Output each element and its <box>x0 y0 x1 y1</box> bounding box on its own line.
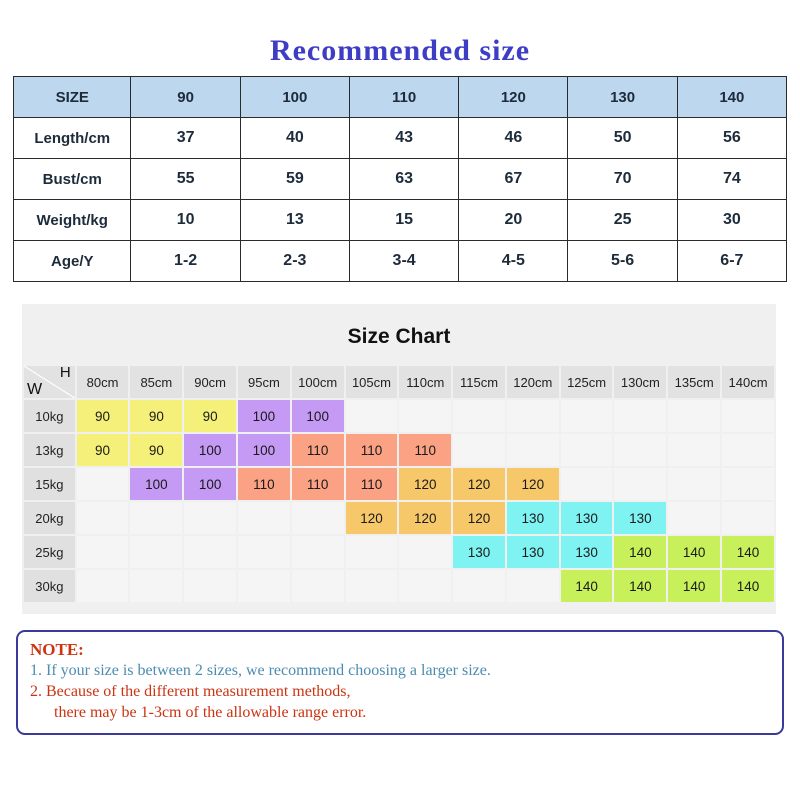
size-table-cell: 10 <box>131 200 240 241</box>
size-table-header-cell: 120 <box>459 77 568 118</box>
grid-cell-empty <box>184 570 236 602</box>
grid-cell-size: 100 <box>184 434 236 466</box>
grid-column-header: 85cm <box>130 366 182 398</box>
table-row: Length/cm 37 40 43 46 50 56 <box>14 118 787 159</box>
grid-cell-size: 140 <box>561 570 613 602</box>
grid-cell-empty <box>507 570 559 602</box>
grid-cell-empty <box>238 570 290 602</box>
grid-cell-size: 90 <box>77 400 129 432</box>
grid-cell-empty <box>561 468 613 500</box>
grid-column-header: 110cm <box>399 366 451 398</box>
size-table-cell: 15 <box>349 200 458 241</box>
grid-cell-empty <box>668 434 720 466</box>
grid-column-header: 135cm <box>668 366 720 398</box>
size-table-cell: 1-2 <box>131 241 240 282</box>
grid-cell-size: 130 <box>453 536 505 568</box>
grid-cell-empty <box>668 502 720 534</box>
size-table-cell: 55 <box>131 159 240 200</box>
grid-row-label: 20kg <box>24 502 75 534</box>
note-line-3: there may be 1-3cm of the allowable rang… <box>30 702 772 723</box>
grid-cell-empty <box>130 502 182 534</box>
grid-cell-size: 140 <box>614 536 666 568</box>
grid-cell-empty <box>722 400 774 432</box>
grid-column-header: 140cm <box>722 366 774 398</box>
size-table-cell: 25 <box>568 200 677 241</box>
grid-cell-size: 110 <box>292 434 344 466</box>
grid-cell-empty <box>77 468 129 500</box>
grid-cell-empty <box>77 570 129 602</box>
grid-cell-size: 140 <box>668 536 720 568</box>
grid-cell-empty <box>292 536 344 568</box>
grid-cell-size: 100 <box>130 468 182 500</box>
size-table-cell: 50 <box>568 118 677 159</box>
grid-column-header: 95cm <box>238 366 290 398</box>
grid-column-header: 90cm <box>184 366 236 398</box>
grid-row: 25kg130130130140140140 <box>24 536 774 568</box>
size-table-header-cell: 130 <box>568 77 677 118</box>
grid-cell-size: 110 <box>292 468 344 500</box>
grid-row: 30kg140140140140 <box>24 570 774 602</box>
grid-cell-size: 120 <box>453 468 505 500</box>
grid-cell-empty <box>453 570 505 602</box>
grid-cell-empty <box>722 468 774 500</box>
grid-cell-size: 120 <box>399 502 451 534</box>
grid-column-header: 130cm <box>614 366 666 398</box>
grid-cell-size: 100 <box>238 434 290 466</box>
size-table-cell: 5-6 <box>568 241 677 282</box>
grid-column-header: 125cm <box>561 366 613 398</box>
grid-cell-size: 140 <box>614 570 666 602</box>
size-table-cell: 6-7 <box>677 241 786 282</box>
note-line-1: 1. If your size is between 2 sizes, we r… <box>30 660 772 681</box>
size-table-header-cell: 100 <box>240 77 349 118</box>
grid-cell-size: 130 <box>614 502 666 534</box>
grid-cell-empty <box>346 400 398 432</box>
size-table-row-label: Age/Y <box>14 241 131 282</box>
grid-cell-empty <box>184 536 236 568</box>
grid-row-label: 10kg <box>24 400 75 432</box>
grid-cell-empty <box>130 570 182 602</box>
grid-cell-empty <box>292 570 344 602</box>
size-table-head: SIZE 90 100 110 120 130 140 <box>14 77 787 118</box>
recommended-size-table-wrapper: SIZE 90 100 110 120 130 140 Length/cm 37… <box>0 76 800 282</box>
size-table-header-cell: 140 <box>677 77 786 118</box>
size-table-cell: 56 <box>677 118 786 159</box>
grid-column-header: 100cm <box>292 366 344 398</box>
grid-cell-empty <box>130 536 182 568</box>
grid-column-header: 120cm <box>507 366 559 398</box>
grid-cell-size: 110 <box>346 468 398 500</box>
grid-cell-size: 110 <box>346 434 398 466</box>
grid-cell-size: 100 <box>292 400 344 432</box>
size-table-row-label: Bust/cm <box>14 159 131 200</box>
grid-cell-size: 140 <box>722 570 774 602</box>
grid-row: 13kg9090100100110110110 <box>24 434 774 466</box>
size-table-cell: 13 <box>240 200 349 241</box>
grid-cell-empty <box>453 400 505 432</box>
grid-cell-empty <box>77 536 129 568</box>
grid-column-header: 115cm <box>453 366 505 398</box>
size-table-row-label: Length/cm <box>14 118 131 159</box>
grid-cell-empty <box>561 400 613 432</box>
grid-row-label: 15kg <box>24 468 75 500</box>
size-chart-header-row: H W 80cm85cm90cm95cm100cm105cm110cm115cm… <box>24 366 774 398</box>
grid-cell-empty <box>399 400 451 432</box>
grid-cell-empty <box>184 502 236 534</box>
size-table-header-cell: 90 <box>131 77 240 118</box>
size-table-header-cell: 110 <box>349 77 458 118</box>
size-table-cell: 4-5 <box>459 241 568 282</box>
grid-cell-size: 110 <box>238 468 290 500</box>
grid-cell-size: 90 <box>130 434 182 466</box>
recommended-size-table: SIZE 90 100 110 120 130 140 Length/cm 37… <box>13 76 787 282</box>
grid-cell-size: 130 <box>561 536 613 568</box>
grid-cell-size: 100 <box>238 400 290 432</box>
table-row: Age/Y 1-2 2-3 3-4 4-5 5-6 6-7 <box>14 241 787 282</box>
size-chart-head: H W 80cm85cm90cm95cm100cm105cm110cm115cm… <box>24 366 774 398</box>
size-table-row-label: Weight/kg <box>14 200 131 241</box>
size-table-body: Length/cm 37 40 43 46 50 56 Bust/cm 55 5… <box>14 118 787 282</box>
grid-cell-empty <box>507 400 559 432</box>
grid-cell-empty <box>292 502 344 534</box>
grid-cell-size: 110 <box>399 434 451 466</box>
grid-cell-empty <box>238 502 290 534</box>
grid-row: 20kg120120120130130130 <box>24 502 774 534</box>
note-line-2: 2. Because of the different measurement … <box>30 681 772 702</box>
page-title: Recommended size <box>0 0 800 76</box>
note-box: NOTE: 1. If your size is between 2 sizes… <box>16 630 784 735</box>
size-table-cell: 43 <box>349 118 458 159</box>
grid-cell-size: 130 <box>561 502 613 534</box>
grid-cell-size: 130 <box>507 502 559 534</box>
grid-cell-size: 140 <box>722 536 774 568</box>
grid-cell-empty <box>668 400 720 432</box>
grid-cell-empty <box>722 502 774 534</box>
size-table-header-cell: SIZE <box>14 77 131 118</box>
grid-cell-size: 120 <box>453 502 505 534</box>
table-row: Bust/cm 55 59 63 67 70 74 <box>14 159 787 200</box>
grid-cell-size: 120 <box>507 468 559 500</box>
size-table-header-row: SIZE 90 100 110 120 130 140 <box>14 77 787 118</box>
size-chart-panel: Size Chart H W 80cm85cm90cm95cm100cm105c… <box>22 304 776 614</box>
grid-cell-empty <box>507 434 559 466</box>
grid-row-label: 30kg <box>24 570 75 602</box>
grid-cell-empty <box>561 434 613 466</box>
grid-cell-empty <box>399 570 451 602</box>
size-table-cell: 46 <box>459 118 568 159</box>
grid-cell-empty <box>238 536 290 568</box>
grid-cell-empty <box>77 502 129 534</box>
size-table-cell: 3-4 <box>349 241 458 282</box>
grid-cell-empty <box>346 570 398 602</box>
size-table-cell: 20 <box>459 200 568 241</box>
note-title: NOTE: <box>30 639 772 660</box>
grid-row-label: 13kg <box>24 434 75 466</box>
size-table-cell: 30 <box>677 200 786 241</box>
grid-cell-empty <box>614 400 666 432</box>
grid-row-label: 25kg <box>24 536 75 568</box>
size-table-cell: 37 <box>131 118 240 159</box>
grid-cell-empty <box>722 434 774 466</box>
grid-corner-wh-header: H W <box>24 366 75 398</box>
grid-row: 10kg909090100100 <box>24 400 774 432</box>
grid-cell-empty <box>668 468 720 500</box>
grid-cell-size: 90 <box>184 400 236 432</box>
grid-cell-size: 100 <box>184 468 236 500</box>
table-row: Weight/kg 10 13 15 20 25 30 <box>14 200 787 241</box>
grid-cell-empty <box>346 536 398 568</box>
grid-cell-empty <box>453 434 505 466</box>
grid-corner-w-label: W <box>27 382 42 398</box>
size-table-cell: 70 <box>568 159 677 200</box>
size-table-cell: 40 <box>240 118 349 159</box>
grid-cell-size: 130 <box>507 536 559 568</box>
size-chart-grid: H W 80cm85cm90cm95cm100cm105cm110cm115cm… <box>22 364 776 604</box>
grid-column-header: 105cm <box>346 366 398 398</box>
size-table-cell: 74 <box>677 159 786 200</box>
size-chart-body: 10kg90909010010013kg90901001001101101101… <box>24 400 774 602</box>
size-table-cell: 59 <box>240 159 349 200</box>
grid-row: 15kg100100110110110120120120 <box>24 468 774 500</box>
grid-cell-size: 120 <box>399 468 451 500</box>
size-table-cell: 67 <box>459 159 568 200</box>
grid-corner-h-label: H <box>60 365 71 380</box>
size-table-cell: 2-3 <box>240 241 349 282</box>
size-chart-title: Size Chart <box>22 304 776 364</box>
size-table-cell: 63 <box>349 159 458 200</box>
grid-cell-size: 90 <box>77 434 129 466</box>
grid-cell-empty <box>399 536 451 568</box>
grid-cell-size: 90 <box>130 400 182 432</box>
grid-cell-size: 140 <box>668 570 720 602</box>
grid-column-header: 80cm <box>77 366 129 398</box>
grid-cell-size: 120 <box>346 502 398 534</box>
grid-cell-empty <box>614 468 666 500</box>
grid-cell-empty <box>614 434 666 466</box>
